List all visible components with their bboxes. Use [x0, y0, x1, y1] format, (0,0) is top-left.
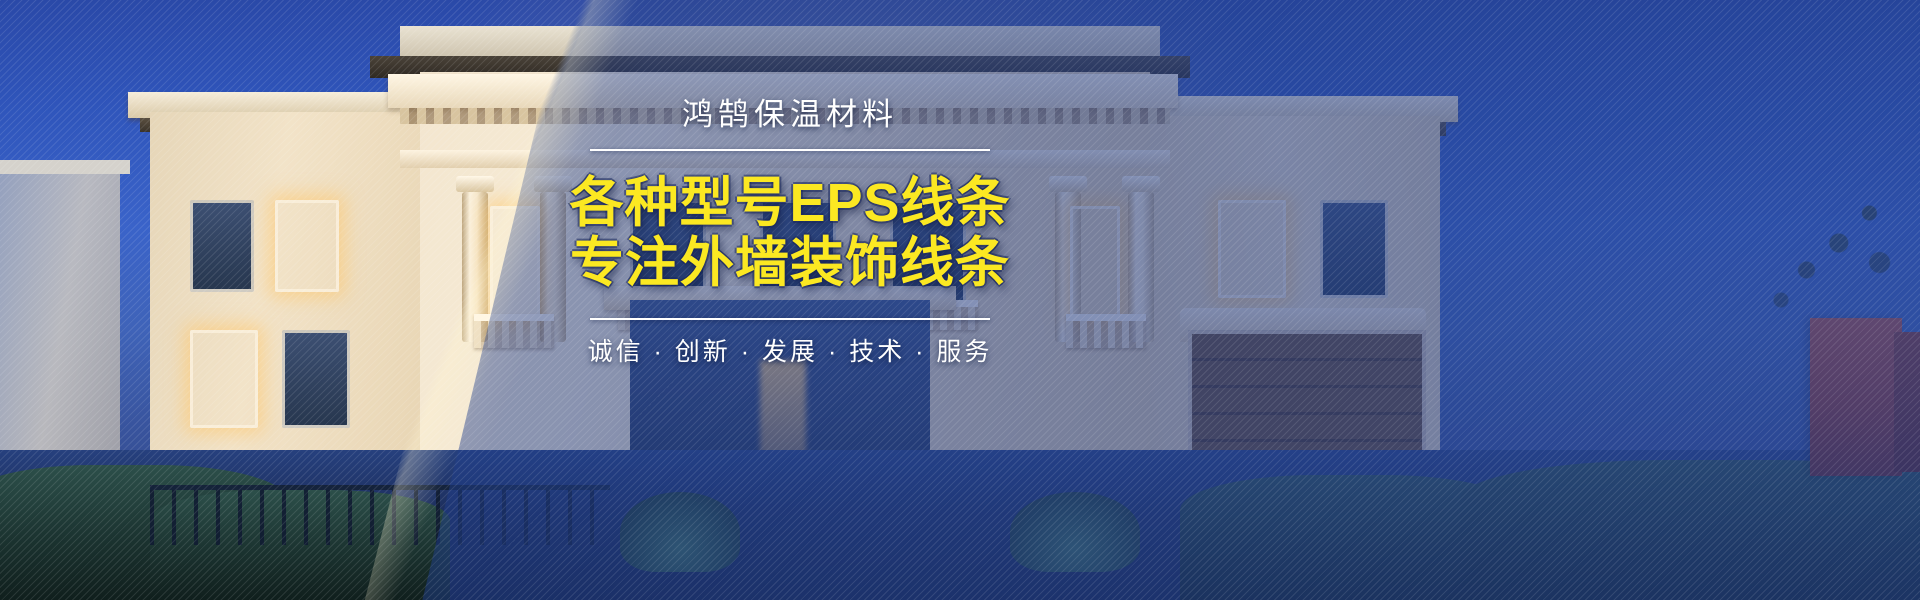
banner-copy-block: 鸿鹄保温材料 各种型号EPS线条 专注外墙装饰线条 诚信 · 创新 · 发展 ·…	[560, 96, 1020, 368]
tagline: 诚信 · 创新 · 发展 · 技术 · 服务	[560, 336, 1020, 369]
window	[282, 330, 350, 428]
brand-name: 鸿鹄保温材料	[560, 96, 1020, 135]
window-lit	[275, 200, 339, 292]
divider-bottom	[590, 318, 990, 320]
headline-line-2: 专注外墙装饰线条	[560, 233, 1020, 293]
headline-group: 各种型号EPS线条 专注外墙装饰线条	[560, 173, 1020, 294]
headline-line-1: 各种型号EPS线条	[560, 173, 1020, 233]
window-lit	[190, 330, 258, 428]
hero-banner: 鸿鹄保温材料 各种型号EPS线条 专注外墙装饰线条 诚信 · 创新 · 发展 ·…	[0, 0, 1920, 600]
window	[190, 200, 254, 292]
divider-top	[590, 149, 990, 151]
